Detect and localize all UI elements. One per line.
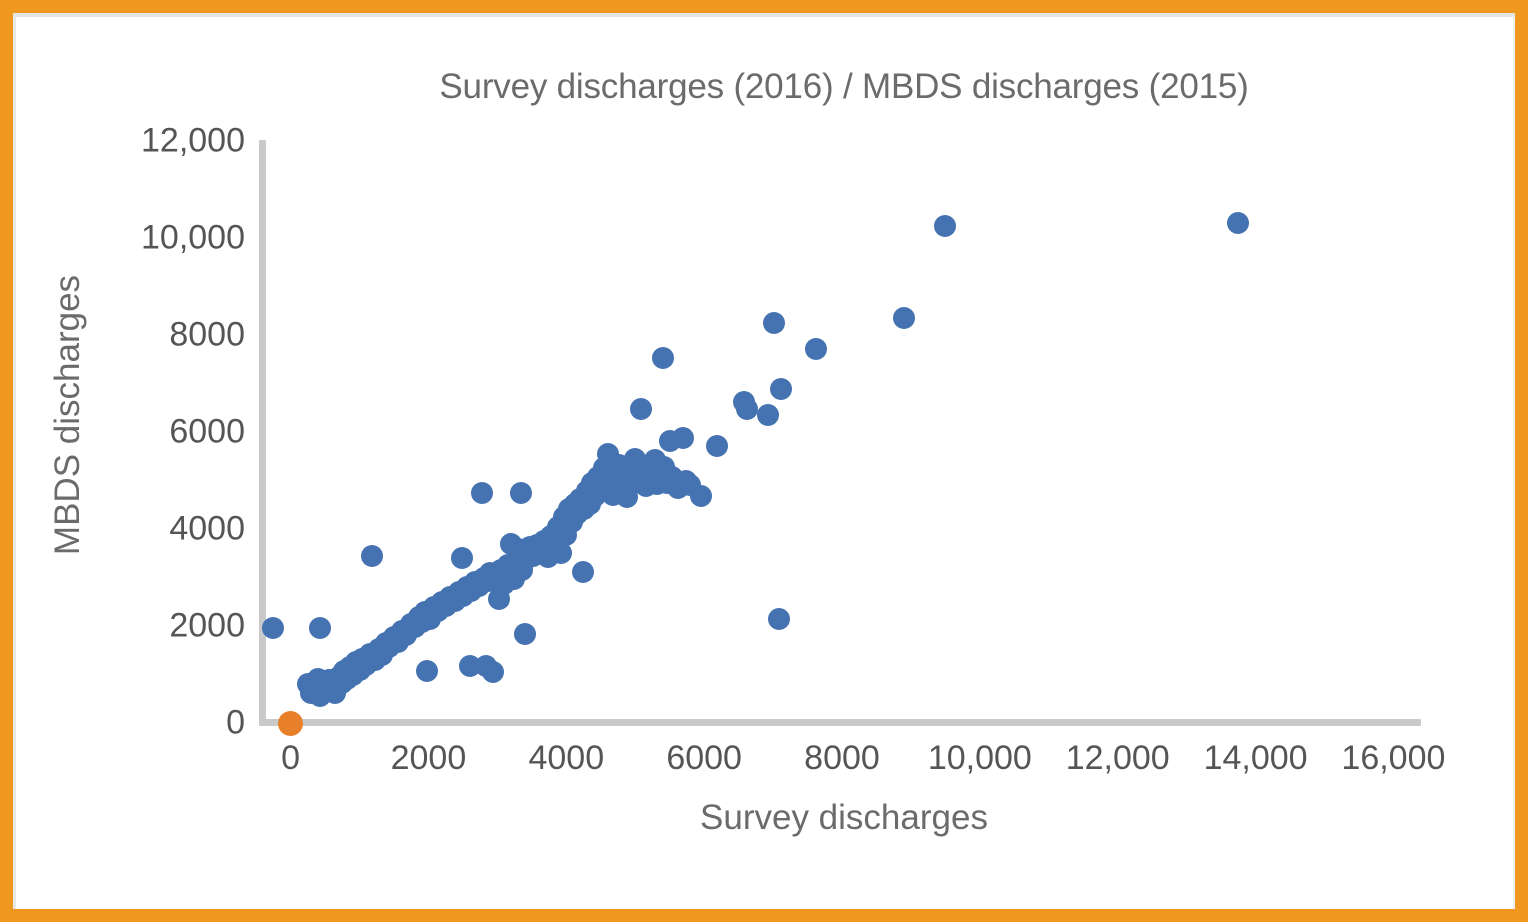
y-tick-label: 6000 [115,413,245,452]
data-point [262,617,284,639]
data-point [768,608,790,630]
y-axis-label: MBDS discharges [48,115,88,715]
data-point [672,427,694,449]
y-tick-label: 2000 [115,607,245,646]
x-tick-label: 8000 [804,739,880,778]
data-point [630,398,652,420]
origin-data-point [278,711,303,736]
y-axis-tick-labels: 0200040006000800010,00012,000 [100,0,245,922]
data-point [763,312,785,334]
data-point [770,378,792,400]
data-point [893,307,915,329]
data-point [736,398,758,420]
y-tick-label: 8000 [115,316,245,355]
data-point [361,545,383,567]
x-tick-label: 12,000 [1066,739,1170,778]
data-point [482,661,504,683]
x-tick-label: 10,000 [928,739,1032,778]
data-point [1227,212,1249,234]
x-tick-label: 16,000 [1341,739,1445,778]
data-point [309,617,331,639]
scatter-chart: Survey discharges (2016) / MBDS discharg… [0,0,1528,922]
x-tick-label: 4000 [528,739,604,778]
plot-area [263,141,1421,723]
x-tick-label: 2000 [391,739,467,778]
y-tick-label: 10,000 [115,219,245,258]
data-point [652,347,674,369]
data-point [690,485,712,507]
data-point [451,547,473,569]
x-tick-label: 14,000 [1204,739,1308,778]
data-point [706,435,728,457]
data-point [510,482,532,504]
y-tick-label: 4000 [115,510,245,549]
y-tick-label: 12,000 [115,122,245,161]
chart-title: Survey discharges (2016) / MBDS discharg… [264,67,1424,107]
data-point [514,623,536,645]
data-point [572,561,594,583]
screenshot-root: Survey discharges (2016) / MBDS discharg… [0,0,1528,922]
x-tick-label: 6000 [666,739,742,778]
data-point [934,215,956,237]
x-tick-label: 0 [281,739,300,778]
y-tick-label: 0 [115,704,245,743]
data-point [471,482,493,504]
data-point [805,338,827,360]
data-point [416,660,438,682]
data-point [757,404,779,426]
x-axis-label: Survey discharges [264,798,1424,838]
